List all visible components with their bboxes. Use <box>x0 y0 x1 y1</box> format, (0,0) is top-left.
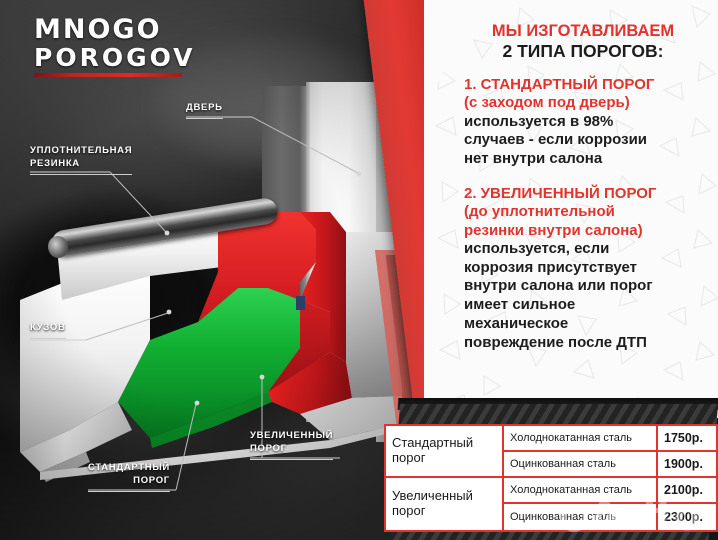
info-block-1-subtitle-0: (с заходом под дверь) <box>464 94 710 112</box>
price-row-material-2: Холоднокатанная сталь <box>504 478 658 504</box>
brand-logo-line2: POROGOV <box>34 45 184 70</box>
info-block-1-body-0: используется в 98% <box>464 113 710 132</box>
label-enlarged-line2: ПОРОГ <box>250 443 333 460</box>
label-standard-line1: СТАНДАРТНЫЙ <box>88 462 170 473</box>
info-block-2-body-4: механическое <box>464 315 710 334</box>
brand-logo: MNOGO POROGOV <box>34 16 184 77</box>
info-block-2: 2. УВЕЛИЧЕННЫЙ ПОРОГ (до уплотнительной … <box>424 185 718 352</box>
label-body-text: КУЗОВ <box>30 322 66 339</box>
brand-logo-line1: MNOGO <box>34 16 184 43</box>
brand-logo-underline <box>33 73 182 77</box>
label-standard-line2: ПОРОГ <box>88 475 170 492</box>
info-block-2-subtitle-0: (до уплотнительной <box>464 203 710 221</box>
info-panel: МЫ ИЗГОТАВЛИВАЕМ 2 ТИПА ПОРОГОВ: 1. СТАН… <box>424 0 718 418</box>
info-block-1: 1. СТАНДАРТНЫЙ ПОРОГ (с заходом под двер… <box>424 76 718 169</box>
info-block-2-body-2: внутри салона или порог <box>464 277 710 296</box>
info-block-2-subtitle-1: резинки внутри салона) <box>464 222 710 240</box>
label-enlarged-line1: УВЕЛИЧЕННЫЙ <box>250 430 333 441</box>
price-row-price-2: 2100р. <box>658 478 716 504</box>
label-door-text: ДВЕРЬ <box>186 102 223 119</box>
price-row-material-0: Холоднокатанная сталь <box>504 426 658 452</box>
info-block-1-body-2: нет внутри салона <box>464 150 710 169</box>
info-block-1-title: 1. СТАНДАРТНЫЙ ПОРОГ <box>464 76 710 94</box>
label-body: КУЗОВ <box>30 322 66 339</box>
price-table: Стандартный порог Холоднокатанная сталь … <box>384 424 718 532</box>
price-row-name-enlarged: Увеличенный порог <box>386 478 504 530</box>
label-seal: УПЛОТНИТЕЛЬНАЯ РЕЗИНКА <box>30 145 132 175</box>
label-seal-line1: УПЛОТНИТЕЛЬНАЯ <box>30 145 132 156</box>
info-block-2-body-3: имеет сильное <box>464 296 710 315</box>
info-block-1-body-1: случаев - если коррозии <box>464 131 710 150</box>
price-row-price-1: 1900р. <box>658 452 716 478</box>
label-seal-line2: РЕЗИНКА <box>30 158 132 175</box>
info-heading-line2: 2 ТИПА ПОРОГОВ: <box>458 41 708 62</box>
info-block-2-title: 2. УВЕЛИЧЕННЫЙ ПОРОГ <box>464 185 710 203</box>
price-row-material-1: Оцинкованная сталь <box>504 452 658 478</box>
label-door: ДВЕРЬ <box>186 102 223 119</box>
info-block-2-body-5: повреждение после ДТП <box>464 334 710 353</box>
label-enlarged-sill: УВЕЛИЧЕННЫЙ ПОРОГ <box>250 430 333 460</box>
info-heading-line1: МЫ ИЗГОТАВЛИВАЕМ <box>458 22 708 41</box>
info-panel-content: МЫ ИЗГОТАВЛИВАЕМ 2 ТИПА ПОРОГОВ: 1. СТАН… <box>424 0 718 352</box>
price-row-name-standard: Стандартный порог <box>386 426 504 478</box>
price-row-price-3: 2300р. <box>658 504 716 530</box>
price-row-material-3: Оцинкованная сталь <box>504 504 658 530</box>
poster-root: ДВЕРЬ УПЛОТНИТЕЛЬНАЯ РЕЗИНКА КУЗОВ СТАНД… <box>0 0 718 540</box>
label-standard-sill: СТАНДАРТНЫЙ ПОРОГ <box>88 462 170 492</box>
price-row-price-0: 1750р. <box>658 426 716 452</box>
info-block-2-body-1: коррозия присутствует <box>464 259 710 278</box>
info-block-2-body-0: используется, если <box>464 240 710 259</box>
